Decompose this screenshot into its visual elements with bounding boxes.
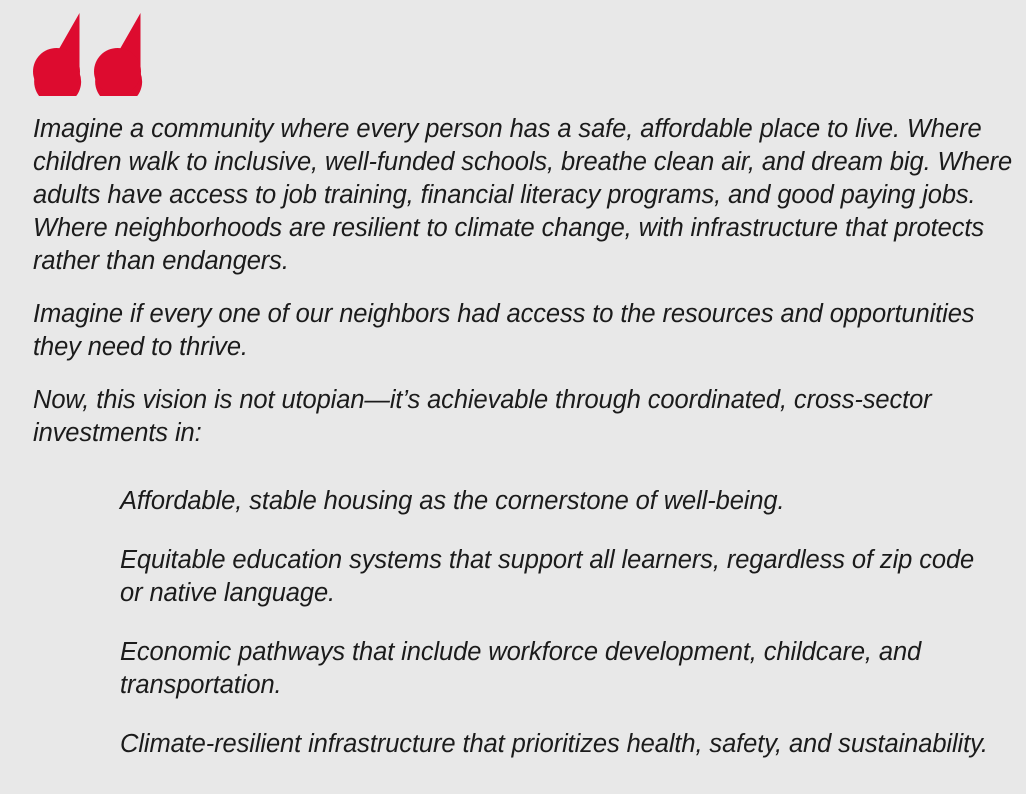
quote-paragraph-1: Imagine a community where every person h… <box>33 113 1017 278</box>
list-item: Economic pathways that include workforce… <box>120 636 1000 702</box>
quote-paragraph-2: Imagine if every one of our neighbors ha… <box>33 298 1017 364</box>
investment-list: Affordable, stable housing as the corner… <box>120 485 1000 761</box>
list-item: Equitable education systems that support… <box>120 544 1000 610</box>
pull-quote-card: Imagine a community where every person h… <box>0 0 1026 794</box>
list-item: Climate-resilient infrastructure that pr… <box>120 728 1000 761</box>
open-quote-icon <box>33 12 145 96</box>
quote-paragraph-3: Now, this vision is not utopian—it’s ach… <box>33 384 1017 450</box>
list-item: Affordable, stable housing as the corner… <box>120 485 1000 518</box>
quote-body: Imagine a community where every person h… <box>33 113 1017 450</box>
